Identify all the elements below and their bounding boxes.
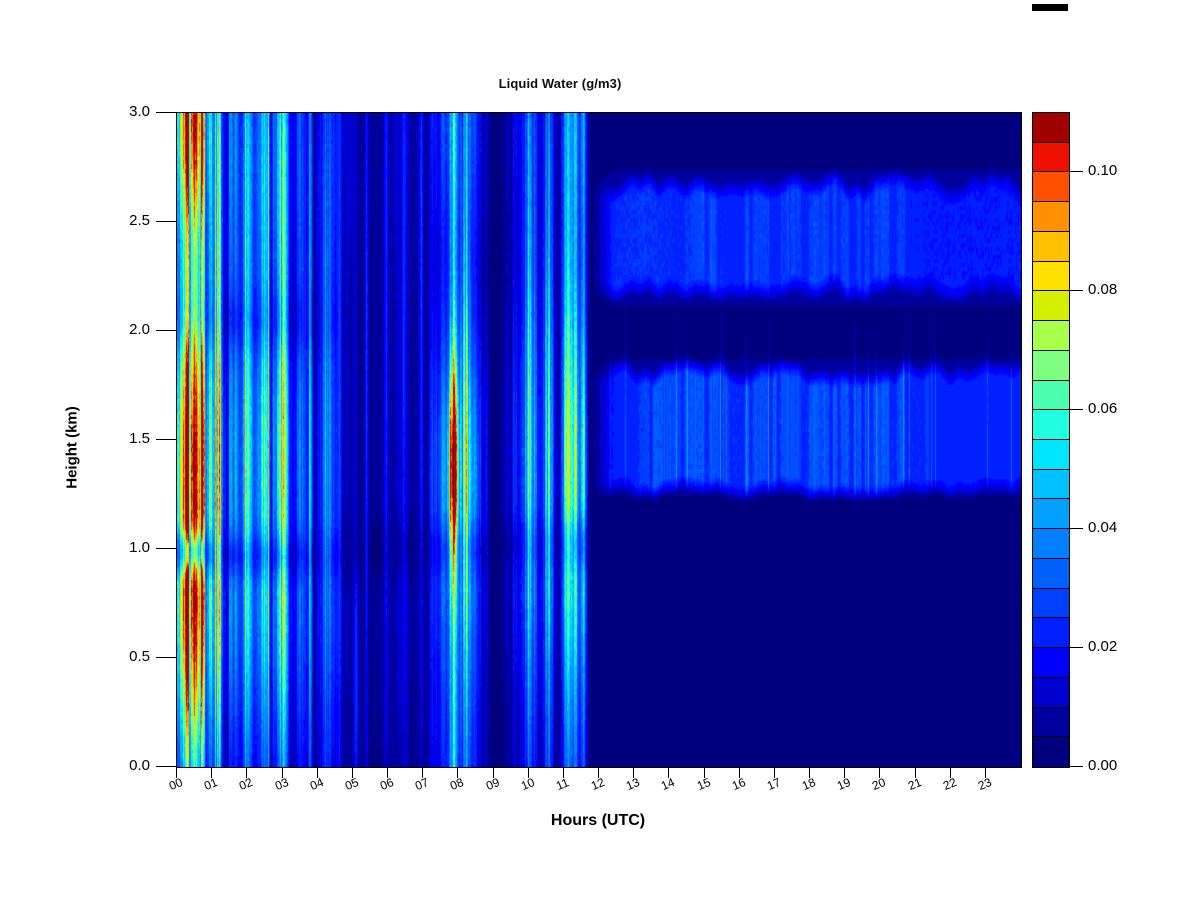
colorbar-band <box>1033 648 1069 678</box>
x-axis-tick-label: 08 <box>448 775 466 793</box>
x-axis-tick-label: 03 <box>273 775 291 793</box>
x-axis-tick-label: 13 <box>624 775 642 793</box>
x-axis-tick-label: 00 <box>167 775 185 793</box>
chart-title: Liquid Water (g/m3) <box>0 76 1200 91</box>
x-axis-tick-label: 19 <box>835 775 853 793</box>
chart-title-text: Liquid Water (g/m3) <box>499 76 622 91</box>
colorbar-band <box>1033 618 1069 648</box>
y-axis-tick-label: 3.0 <box>90 103 150 120</box>
x-axis-tick-label: 04 <box>308 775 326 793</box>
x-axis-tick-label: 02 <box>237 775 255 793</box>
colorbar-band <box>1033 470 1069 500</box>
colorbar-band <box>1033 678 1069 708</box>
colorbar-band <box>1033 113 1069 143</box>
colorbar-band <box>1033 291 1069 321</box>
colorbar-band <box>1033 143 1069 173</box>
colorbar-tick <box>1070 409 1083 410</box>
x-axis-tick-label: 20 <box>870 775 888 793</box>
colorbar-band <box>1033 202 1069 232</box>
colorbar-band <box>1033 232 1069 262</box>
y-axis-title: Height (km) <box>64 348 81 548</box>
x-axis-tick-label: 07 <box>413 775 431 793</box>
x-axis-title: Hours (UTC) <box>176 812 1020 830</box>
figure-canvas: Liquid Water (g/m3) Height (km) Hours (U… <box>0 0 1200 900</box>
y-axis-tick-label: 0.0 <box>90 757 150 774</box>
x-axis-tick-label: 23 <box>976 775 994 793</box>
x-axis-tick-label: 05 <box>343 775 361 793</box>
colorbar-tick <box>1070 766 1083 767</box>
colorbar <box>1032 112 1070 768</box>
y-axis-tick-label: 0.5 <box>90 648 150 665</box>
x-axis-tick-label: 11 <box>554 775 571 793</box>
colorbar-band <box>1033 440 1069 470</box>
colorbar-band <box>1033 410 1069 440</box>
colorbar-band <box>1033 708 1069 738</box>
heatmap-plot-area <box>176 112 1022 768</box>
colorbar-tick-label: 0.10 <box>1088 162 1117 179</box>
colorbar-band <box>1033 262 1069 292</box>
x-axis-tick-label: 12 <box>589 775 607 793</box>
colorbar-tick <box>1070 647 1083 648</box>
colorbar-band <box>1033 589 1069 619</box>
render-artifact-bar <box>1032 4 1068 11</box>
colorbar-tick <box>1070 528 1083 529</box>
colorbar-tick-label: 0.08 <box>1088 281 1117 298</box>
y-axis-tick-label: 1.5 <box>90 430 150 447</box>
colorbar-band <box>1033 321 1069 351</box>
y-axis-tick-label: 2.5 <box>90 212 150 229</box>
x-axis-tick-label: 10 <box>519 775 537 793</box>
colorbar-band <box>1033 351 1069 381</box>
y-axis-tick <box>156 112 176 113</box>
x-axis-tick-label: 18 <box>800 775 818 793</box>
x-axis-tick-label: 14 <box>659 775 677 793</box>
colorbar-tick-label: 0.00 <box>1088 757 1117 774</box>
colorbar-tick <box>1070 290 1083 291</box>
x-axis-tick-label: 16 <box>730 775 748 793</box>
colorbar-tick-label: 0.06 <box>1088 400 1117 417</box>
x-axis-tick-label: 15 <box>695 775 713 793</box>
colorbar-band <box>1033 381 1069 411</box>
x-axis-tick-label: 06 <box>378 775 396 793</box>
y-axis-tick <box>156 439 176 440</box>
x-axis-tick-label: 01 <box>202 775 220 793</box>
x-axis-tick-label: 21 <box>906 775 924 793</box>
colorbar-band <box>1033 172 1069 202</box>
y-axis-tick <box>156 548 176 549</box>
colorbar-band <box>1033 499 1069 529</box>
y-axis-tick <box>156 766 176 767</box>
y-axis-tick <box>156 657 176 658</box>
colorbar-band <box>1033 529 1069 559</box>
colorbar-tick-label: 0.02 <box>1088 638 1117 655</box>
colorbar-band <box>1033 737 1069 767</box>
y-axis-tick <box>156 221 176 222</box>
colorbar-tick-label: 0.04 <box>1088 519 1117 536</box>
x-axis-tick-label: 17 <box>765 775 783 793</box>
y-axis-tick-label: 1.0 <box>90 539 150 556</box>
y-axis-tick-label: 2.0 <box>90 321 150 338</box>
colorbar-band <box>1033 559 1069 589</box>
colorbar-tick <box>1070 171 1083 172</box>
y-axis-tick <box>156 330 176 331</box>
heatmap-canvas <box>177 113 1021 767</box>
x-axis-tick-label: 09 <box>484 775 502 793</box>
x-axis-tick-label: 22 <box>941 775 959 793</box>
